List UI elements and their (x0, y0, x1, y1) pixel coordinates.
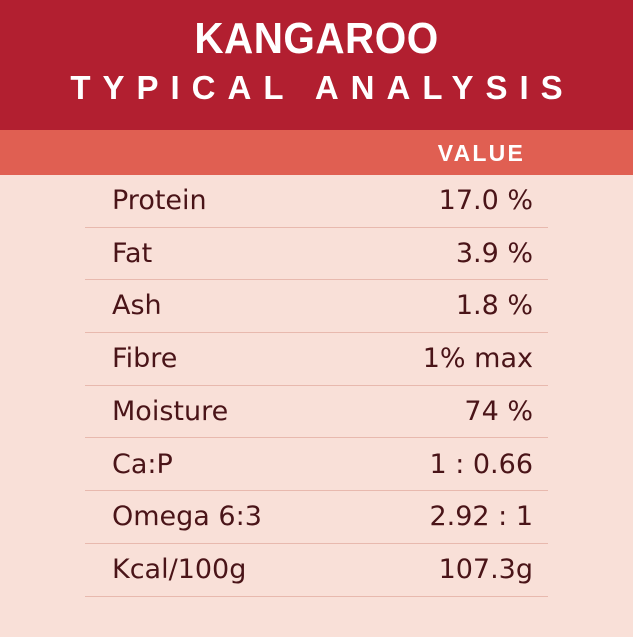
row-value: 17.0 % (0, 183, 533, 219)
row-value: 1% max (0, 341, 533, 377)
card-header: KANGAROO TYPICAL ANALYSIS (0, 0, 633, 130)
page-subtitle: TYPICAL ANALYSIS (0, 68, 633, 108)
row-value: 74 % (0, 394, 533, 430)
table-row: Ca:P1 : 0.66 (0, 439, 633, 492)
table-row: Ash1.8 % (0, 280, 633, 333)
table-row: Fibre1% max (0, 333, 633, 386)
row-value: 1 : 0.66 (0, 447, 533, 483)
page-title: KANGAROO (25, 16, 607, 62)
table-row: Protein17.0 % (0, 175, 633, 228)
table-row: Fat3.9 % (0, 228, 633, 281)
analysis-table-body: Protein17.0 %Fat3.9 %Ash1.8 %Fibre1% max… (0, 175, 633, 637)
table-header-row: VALUE (0, 130, 633, 175)
row-value: 2.92 : 1 (0, 499, 533, 535)
row-separator (85, 596, 548, 597)
column-header-value: VALUE (0, 140, 525, 166)
row-value: 107.3g (0, 552, 533, 588)
table-row: Moisture74 % (0, 386, 633, 439)
row-value: 3.9 % (0, 236, 533, 272)
table-row: Kcal/100g107.3g (0, 544, 633, 597)
typical-analysis-card: KANGAROO TYPICAL ANALYSIS VALUE Protein1… (0, 0, 633, 637)
table-row: Omega 6:32.92 : 1 (0, 491, 633, 544)
row-value: 1.8 % (0, 288, 533, 324)
